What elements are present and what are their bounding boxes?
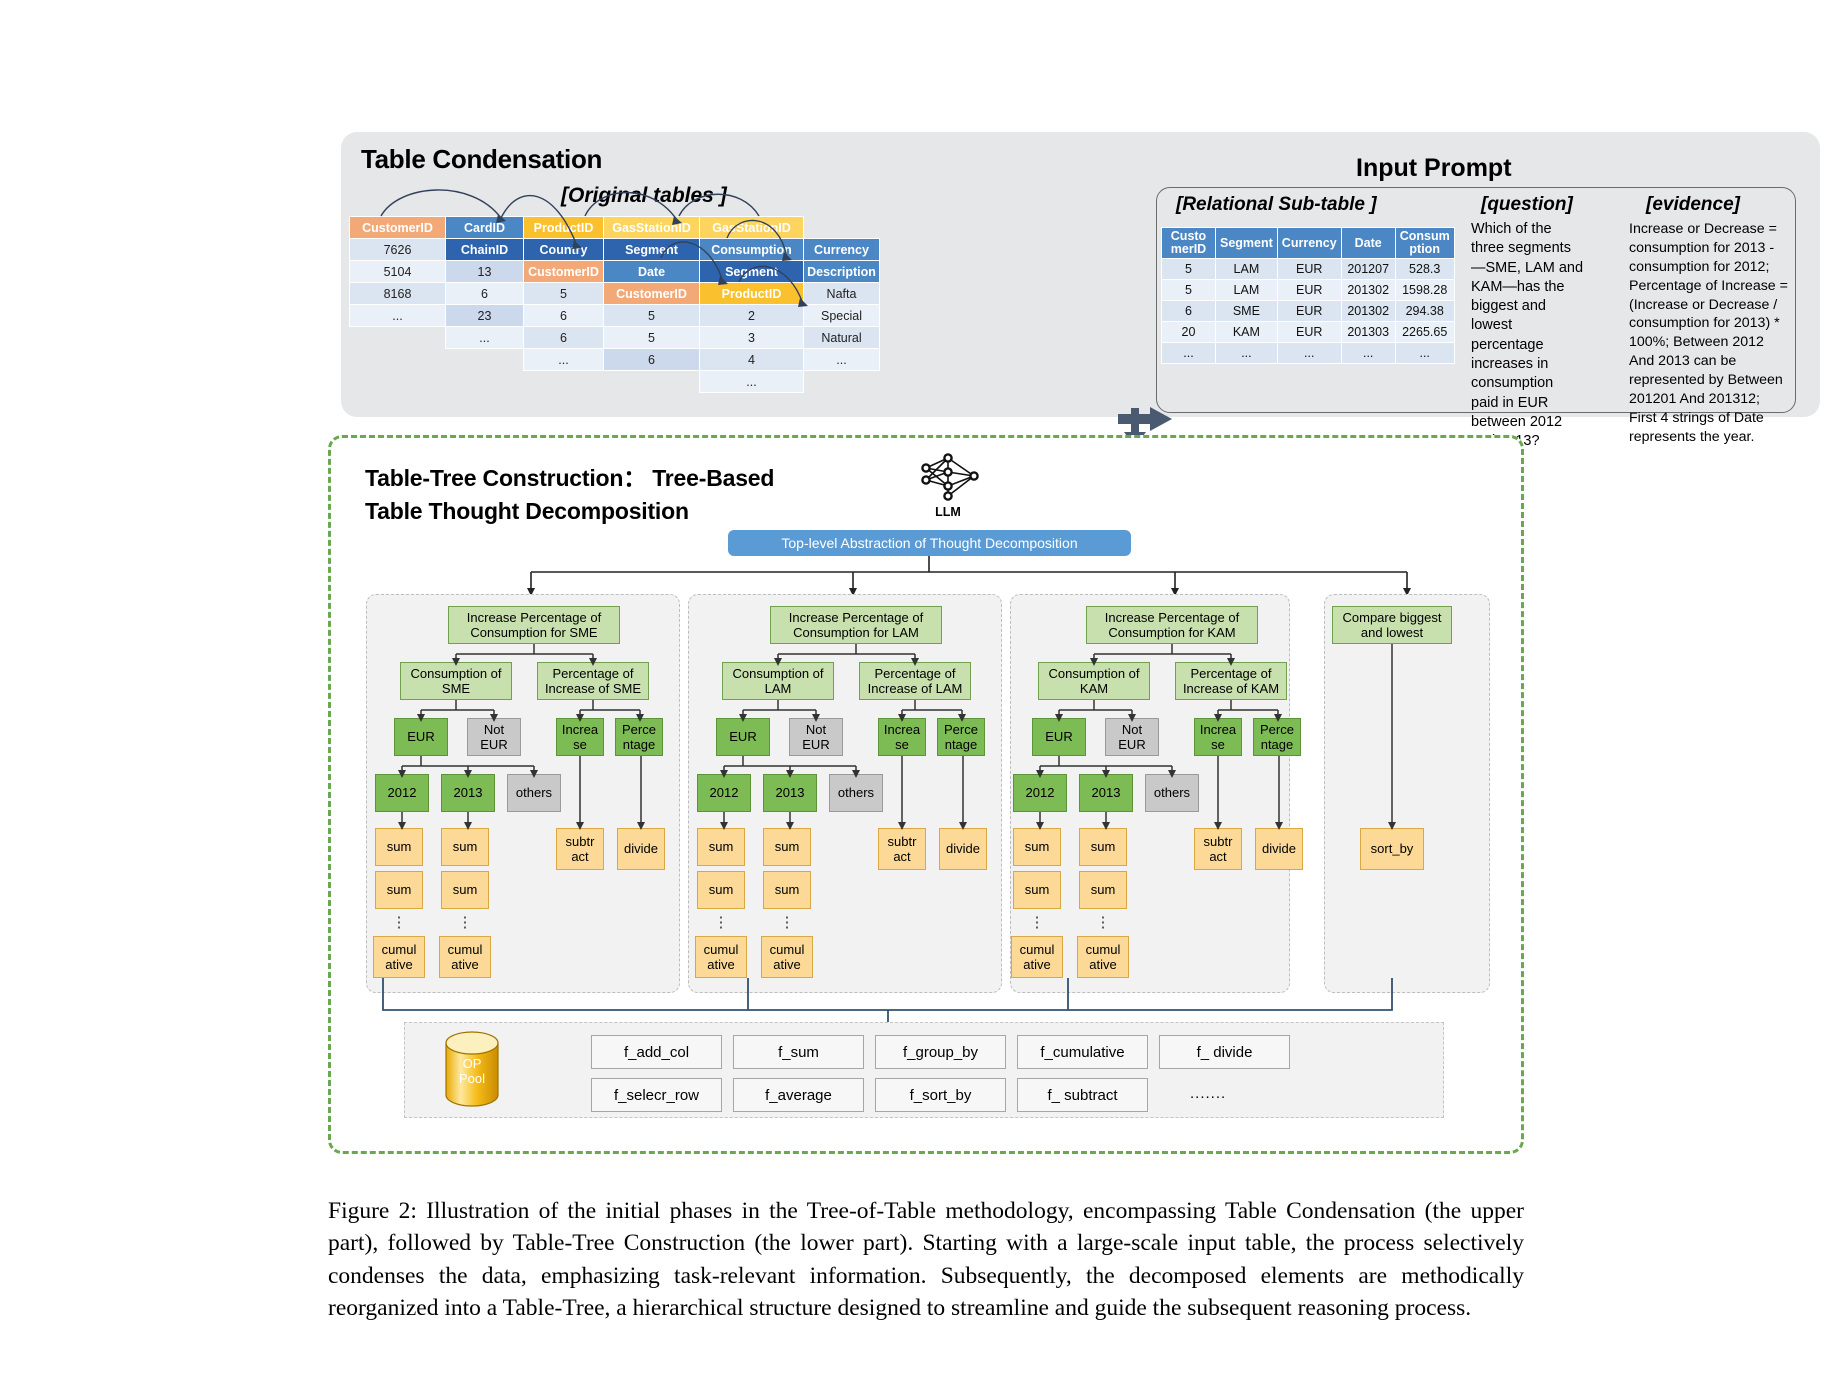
column-header-segment: Segment xyxy=(1216,228,1278,259)
op-button-subtract[interactable]: f_ subtract xyxy=(1017,1078,1148,1112)
column-header: CustomerID xyxy=(524,261,604,283)
vertical-ellipsis-kam-2: ⋮ xyxy=(1079,913,1127,931)
table-cell: ... xyxy=(700,371,804,393)
op-button-average[interactable]: f_average xyxy=(733,1078,864,1112)
column-header: Date xyxy=(604,261,700,283)
table-cell: Natural xyxy=(804,327,880,349)
table-cell: 201207 xyxy=(1341,259,1395,280)
op-cumulative-kam-2[interactable]: cumul ative xyxy=(1077,936,1129,978)
node-root-lam[interactable]: Increase Percentage of Consumption for L… xyxy=(770,606,942,644)
column-header: CardID xyxy=(446,217,524,239)
table-condensation-title: Table Condensation xyxy=(361,144,602,175)
column-header: ProductID xyxy=(700,283,804,305)
op-sum-lam-4[interactable]: sum xyxy=(763,871,811,909)
op-cumulative-lam-2[interactable]: cumul ative xyxy=(761,936,813,978)
table-cell: 13 xyxy=(446,261,524,283)
table-cell: 528.3 xyxy=(1395,259,1454,280)
table-cell: ... xyxy=(350,305,446,327)
top-level-abstraction-banner: Top-level Abstraction of Thought Decompo… xyxy=(728,530,1131,556)
op-button-select-row[interactable]: f_selecr_row xyxy=(591,1078,722,1112)
table-cell: 5 xyxy=(604,305,700,327)
node-others-lam[interactable]: others xyxy=(829,774,883,812)
op-sum-sme-2[interactable]: sum xyxy=(441,828,489,866)
op-button-sum[interactable]: f_sum xyxy=(733,1035,864,1069)
node-others-kam[interactable]: others xyxy=(1145,774,1199,812)
node-eur-kam[interactable]: EUR xyxy=(1032,718,1086,756)
op-button-cumulative[interactable]: f_cumulative xyxy=(1017,1035,1148,1069)
table-cell: ... xyxy=(1277,343,1341,364)
table-cell: 5 xyxy=(1162,280,1216,301)
question-label: [question] xyxy=(1481,194,1573,216)
node-increase-lam[interactable]: Increa se xyxy=(878,718,926,756)
vertical-ellipsis-lam-1: ⋮ xyxy=(697,913,745,931)
node-year-2013-lam[interactable]: 2013 xyxy=(763,774,817,812)
node-year-2013-kam[interactable]: 2013 xyxy=(1079,774,1133,812)
table-cell: KAM xyxy=(1216,322,1278,343)
input-prompt-title: Input Prompt xyxy=(1356,154,1512,183)
table-cell: 5 xyxy=(604,327,700,349)
original-table-3: ProductID Country CustomerID 5 6 6 ... xyxy=(523,216,604,371)
figure-caption: Figure 2: Illustration of the initial ph… xyxy=(328,1195,1524,1325)
op-sum-lam-2[interactable]: sum xyxy=(763,828,811,866)
op-subtract-kam[interactable]: subtr act xyxy=(1194,828,1242,870)
column-header: Segment xyxy=(700,261,804,283)
op-cumulative-lam-1[interactable]: cumul ative xyxy=(695,936,747,978)
node-eur-sme[interactable]: EUR xyxy=(394,718,448,756)
op-sum-sme-4[interactable]: sum xyxy=(441,871,489,909)
table-cell: 2265.65 xyxy=(1395,322,1454,343)
op-sum-kam-1[interactable]: sum xyxy=(1013,828,1061,866)
op-sum-kam-2[interactable]: sum xyxy=(1079,828,1127,866)
op-button-group-by[interactable]: f_group_by xyxy=(875,1035,1006,1069)
op-sum-kam-3[interactable]: sum xyxy=(1013,871,1061,909)
column-header-customerid: Custo merID xyxy=(1162,228,1216,259)
table-header-row: Custo merID Segment Currency Date Consum… xyxy=(1162,228,1455,259)
node-consumption-sme[interactable]: Consumption of SME xyxy=(400,662,512,700)
column-header: ProductID xyxy=(524,217,604,239)
table-cell: 201302 xyxy=(1341,301,1395,322)
table-cell: SME xyxy=(1216,301,1278,322)
table-cell: 6 xyxy=(524,327,604,349)
op-cumulative-kam-1[interactable]: cumul ative xyxy=(1011,936,1063,978)
op-pool-cylinder-label: OP Pool xyxy=(440,1057,504,1086)
table-cell: EUR xyxy=(1277,259,1341,280)
table-cell: 4 xyxy=(700,349,804,371)
table-cell: EUR xyxy=(1277,301,1341,322)
column-header: Description xyxy=(804,261,880,283)
column-header: ChainID xyxy=(446,239,524,261)
node-percentage-lam[interactable]: Perce ntage xyxy=(937,718,985,756)
column-header: CustomerID xyxy=(350,217,446,239)
table-cell: 5 xyxy=(1162,259,1216,280)
node-percentage-increase-kam[interactable]: Percentage of Increase of KAM xyxy=(1175,662,1287,700)
evidence-text: Increase or Decrease = consumption for 2… xyxy=(1629,220,1789,447)
op-cumulative-sme-2[interactable]: cumul ative xyxy=(439,936,491,978)
table-cell: 201302 xyxy=(1341,280,1395,301)
column-header: GasStationID xyxy=(604,217,700,239)
table-cell: ... xyxy=(1162,343,1216,364)
table-cell: 6 xyxy=(604,349,700,371)
table-cell: 294.38 xyxy=(1395,301,1454,322)
table-cell: EUR xyxy=(1277,322,1341,343)
table-cell: 1598.28 xyxy=(1395,280,1454,301)
op-pool-label-line1: OP xyxy=(440,1057,504,1072)
table-cell: LAM xyxy=(1216,280,1278,301)
branch-box-compare xyxy=(1324,594,1490,993)
table-cell: 6 xyxy=(1162,301,1216,322)
table-cell: ... xyxy=(446,327,524,349)
op-pool-ellipsis: ....... xyxy=(1190,1085,1226,1102)
original-table-1: CustomerID 7626 5104 8168 ... xyxy=(349,216,446,327)
op-sum-sme-1[interactable]: sum xyxy=(375,828,423,866)
column-header-date: Date xyxy=(1341,228,1395,259)
title-line-1: Table-Tree Construction： Tree-Based xyxy=(365,462,774,495)
table-row: 20 KAM EUR 201303 2265.65 xyxy=(1162,322,1455,343)
original-table-6: Currency Description Nafta Special Natur… xyxy=(803,238,880,371)
original-table-2: CardID ChainID 13 6 23 ... xyxy=(445,216,524,349)
op-pool-label-line2: Pool xyxy=(440,1072,504,1087)
node-consumption-lam[interactable]: Consumption of LAM xyxy=(722,662,834,700)
column-header: CustomerID xyxy=(604,283,700,305)
question-text: Which of the three segments—SME, LAM and… xyxy=(1471,220,1583,451)
op-divide-lam[interactable]: divide xyxy=(939,828,987,870)
op-subtract-lam[interactable]: subtr act xyxy=(878,828,926,870)
node-year-2013-sme[interactable]: 2013 xyxy=(441,774,495,812)
op-divide-kam[interactable]: divide xyxy=(1255,828,1303,870)
node-percentage-increase-lam[interactable]: Percentage of Increase of LAM xyxy=(859,662,971,700)
table-condensation-panel: Table Condensation [Original tables ] Cu… xyxy=(341,132,1820,417)
op-divide-sme[interactable]: divide xyxy=(617,828,665,870)
node-percentage-sme[interactable]: Perce ntage xyxy=(615,718,663,756)
table-cell: Nafta xyxy=(804,283,880,305)
neural-network-icon xyxy=(912,452,984,504)
op-subtract-sme[interactable]: subtr act xyxy=(556,828,604,870)
table-cell: 201303 xyxy=(1341,322,1395,343)
node-year-2012-lam[interactable]: 2012 xyxy=(697,774,751,812)
relational-subtable-label: [Relational Sub-table ] xyxy=(1176,194,1377,216)
node-increase-kam[interactable]: Increa se xyxy=(1194,718,1242,756)
table-cell: EUR xyxy=(1277,280,1341,301)
table-cell: 5 xyxy=(524,283,604,305)
node-root-sme[interactable]: Increase Percentage of Consumption for S… xyxy=(448,606,620,644)
llm-label: LLM xyxy=(905,505,991,519)
op-button-add-col[interactable]: f_add_col xyxy=(591,1035,722,1069)
op-cumulative-sme-1[interactable]: cumul ative xyxy=(373,936,425,978)
table-cell: LAM xyxy=(1216,259,1278,280)
table-cell: 6 xyxy=(524,305,604,327)
table-cell: ... xyxy=(1216,343,1278,364)
node-root-kam[interactable]: Increase Percentage of Consumption for K… xyxy=(1086,606,1258,644)
op-sum-sme-3[interactable]: sum xyxy=(375,871,423,909)
column-header: GasStationID xyxy=(700,217,804,239)
op-sum-lam-3[interactable]: sum xyxy=(697,871,745,909)
column-header: Segment xyxy=(604,239,700,261)
table-tree-construction-title: Table-Tree Construction： Tree-Based Tabl… xyxy=(365,462,774,527)
op-sum-lam-1[interactable]: sum xyxy=(697,828,745,866)
op-sum-kam-4[interactable]: sum xyxy=(1079,871,1127,909)
table-row: 6 SME EUR 201302 294.38 xyxy=(1162,301,1455,322)
node-increase-sme[interactable]: Increa se xyxy=(556,718,604,756)
table-cell: ... xyxy=(1395,343,1454,364)
table-cell: ... xyxy=(804,349,880,371)
evidence-label: [evidence] xyxy=(1646,194,1740,216)
table-row: 5 LAM EUR 201207 528.3 xyxy=(1162,259,1455,280)
table-cell: 6 xyxy=(446,283,524,305)
table-row: ... ... ... ... ... xyxy=(1162,343,1455,364)
op-button-sort-by[interactable]: f_sort_by xyxy=(875,1078,1006,1112)
node-consumption-kam[interactable]: Consumption of KAM xyxy=(1038,662,1150,700)
node-percentage-kam[interactable]: Perce ntage xyxy=(1253,718,1301,756)
table-cell: 20 xyxy=(1162,322,1216,343)
column-header-consumption: Consum ption xyxy=(1395,228,1454,259)
original-tables-label: [Original tables ] xyxy=(561,184,727,208)
vertical-ellipsis-kam-1: ⋮ xyxy=(1013,913,1061,931)
original-table-5: GasStationID Consumption Segment Product… xyxy=(699,216,804,393)
column-header: Country xyxy=(524,239,604,261)
llm-block: LLM xyxy=(905,452,991,518)
table-cell: 7626 xyxy=(350,239,446,261)
table-row: 5 LAM EUR 201302 1598.28 xyxy=(1162,280,1455,301)
table-cell: 23 xyxy=(446,305,524,327)
node-year-2012-sme[interactable]: 2012 xyxy=(375,774,429,812)
node-not-eur-lam[interactable]: Not EUR xyxy=(789,718,843,756)
node-others-sme[interactable]: others xyxy=(507,774,561,812)
table-cell: ... xyxy=(524,349,604,371)
relational-subtable: Custo merID Segment Currency Date Consum… xyxy=(1161,227,1455,364)
node-not-eur-kam[interactable]: Not EUR xyxy=(1105,718,1159,756)
title-line-2: Table Thought Decomposition xyxy=(365,495,774,528)
vertical-ellipsis-sme-1: ⋮ xyxy=(375,913,423,931)
node-percentage-increase-sme[interactable]: Percentage of Increase of SME xyxy=(537,662,649,700)
table-cell: 2 xyxy=(700,305,804,327)
node-compare-biggest-lowest[interactable]: Compare biggest and lowest xyxy=(1332,606,1452,644)
column-header: Consumption xyxy=(700,239,804,261)
table-cell: Special xyxy=(804,305,880,327)
node-eur-lam[interactable]: EUR xyxy=(716,718,770,756)
column-header: Currency xyxy=(804,239,880,261)
table-cell: ... xyxy=(1341,343,1395,364)
node-not-eur-sme[interactable]: Not EUR xyxy=(467,718,521,756)
vertical-ellipsis-sme-2: ⋮ xyxy=(441,913,489,931)
op-sort-by[interactable]: sort_by xyxy=(1360,828,1424,870)
vertical-ellipsis-lam-2: ⋮ xyxy=(763,913,811,931)
column-header-currency: Currency xyxy=(1277,228,1341,259)
original-table-4: GasStationID Segment Date CustomerID 5 5… xyxy=(603,216,700,371)
table-cell: 3 xyxy=(700,327,804,349)
op-button-divide[interactable]: f_ divide xyxy=(1159,1035,1290,1069)
node-year-2012-kam[interactable]: 2012 xyxy=(1013,774,1067,812)
table-cell: 5104 xyxy=(350,261,446,283)
table-cell: 8168 xyxy=(350,283,446,305)
